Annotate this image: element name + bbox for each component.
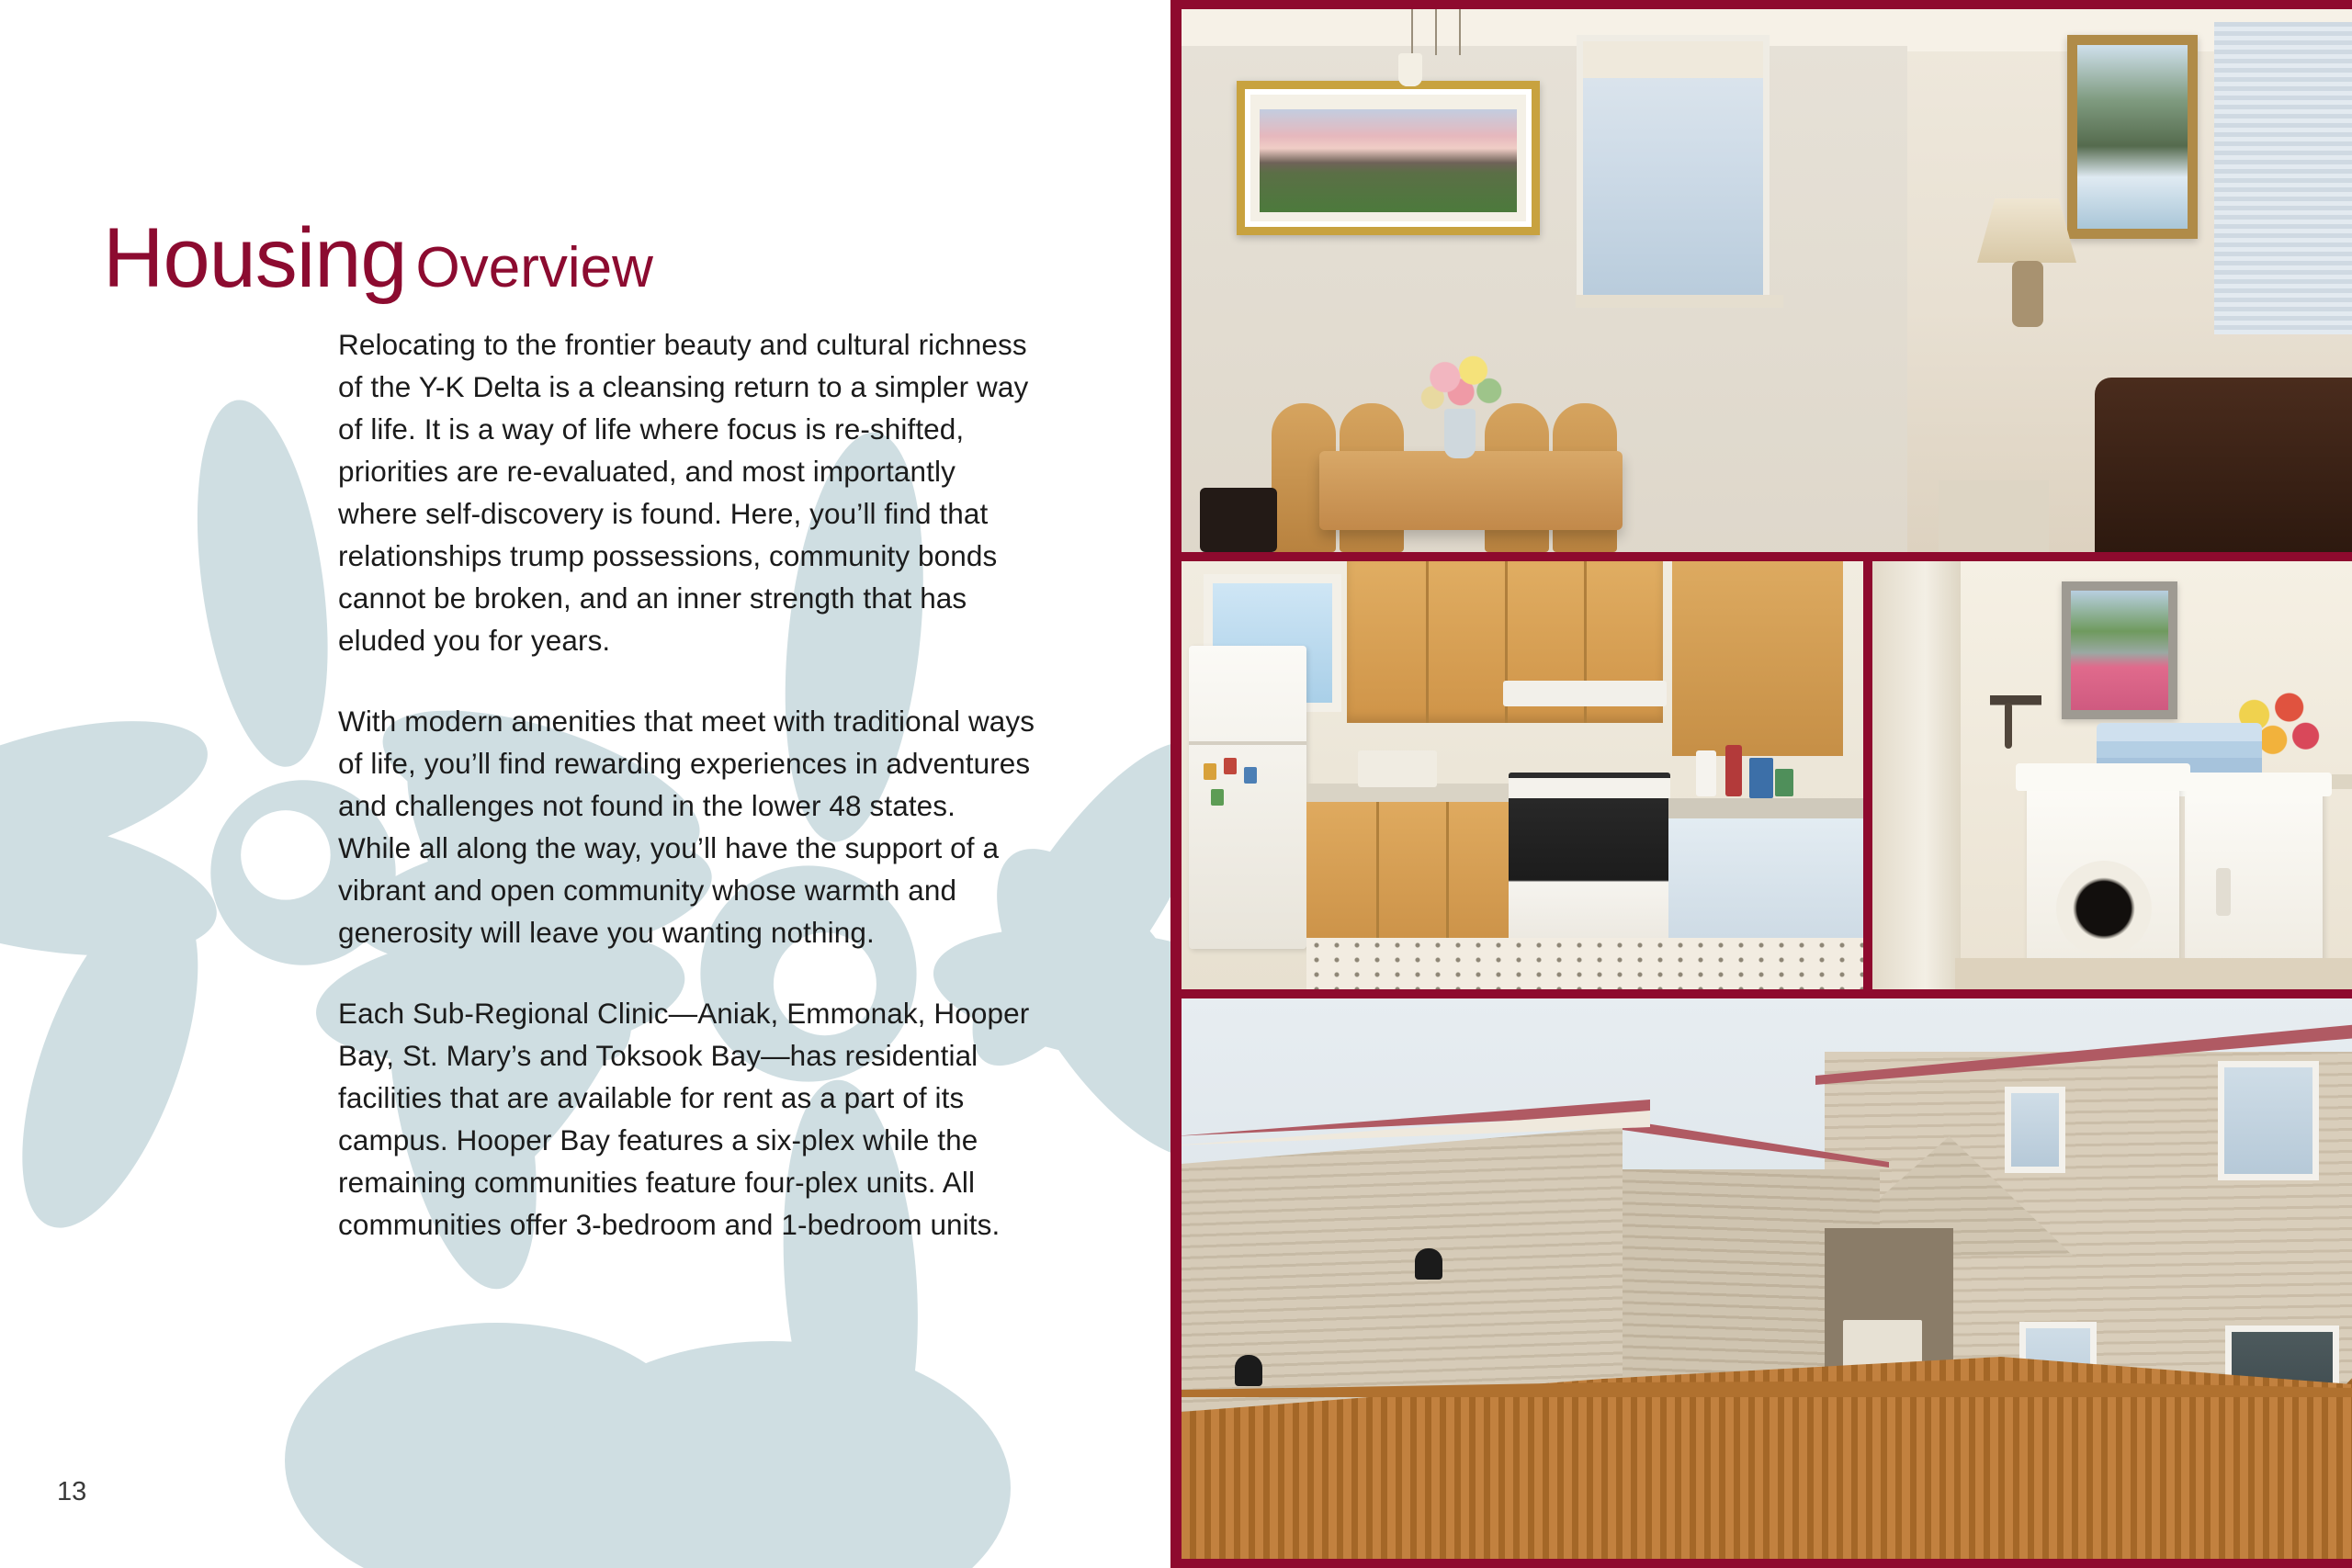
framed-mountain-picture bbox=[2067, 35, 2198, 239]
flower-bouquet bbox=[1419, 350, 1507, 418]
page-number: 13 bbox=[57, 1477, 86, 1507]
brochure-page: HousingOverview Relocating to the fronti… bbox=[0, 0, 2352, 1568]
page-title-main: Housing bbox=[103, 211, 407, 305]
paragraph-2: With modern amenities that meet with tra… bbox=[338, 700, 1036, 953]
photo-row-top: Furnished living and dining room with fr… bbox=[1182, 9, 2352, 552]
exterior-wall-lamp-icon bbox=[1235, 1355, 1262, 1386]
photo-living-dining-room: Furnished living and dining room with fr… bbox=[1182, 9, 2352, 552]
text-column: HousingOverview Relocating to the fronti… bbox=[0, 0, 1170, 1568]
paragraph-3: Each Sub-Regional Clinic—Aniak, Emmonak,… bbox=[338, 992, 1036, 1246]
paragraph-1: Relocating to the frontier beauty and cu… bbox=[338, 323, 1036, 661]
body-copy: Relocating to the frontier beauty and cu… bbox=[338, 323, 1036, 1246]
page-title: HousingOverview bbox=[103, 210, 653, 307]
framed-portrait-picture bbox=[2062, 581, 2177, 719]
exterior-wall-lamp-icon bbox=[1415, 1248, 1442, 1280]
pendant-light-icon bbox=[1398, 9, 1472, 88]
photo-row-bottom: Exterior of a multiplex residential buil… bbox=[1182, 998, 2352, 1559]
photo-kitchen: Kitchen with oak cabinets, white refrige… bbox=[1182, 561, 1863, 989]
photo-panel: Furnished living and dining room with fr… bbox=[1170, 0, 2352, 1568]
page-title-sub: Overview bbox=[416, 236, 653, 299]
photo-building-exterior: Exterior of a multiplex residential buil… bbox=[1182, 998, 2352, 1559]
photo-laundry-room: Laundry room with front-load washer, dry… bbox=[1872, 561, 2352, 989]
photo-row-middle: Kitchen with oak cabinets, white refrige… bbox=[1182, 561, 2352, 989]
framed-landscape-picture bbox=[1237, 81, 1540, 235]
